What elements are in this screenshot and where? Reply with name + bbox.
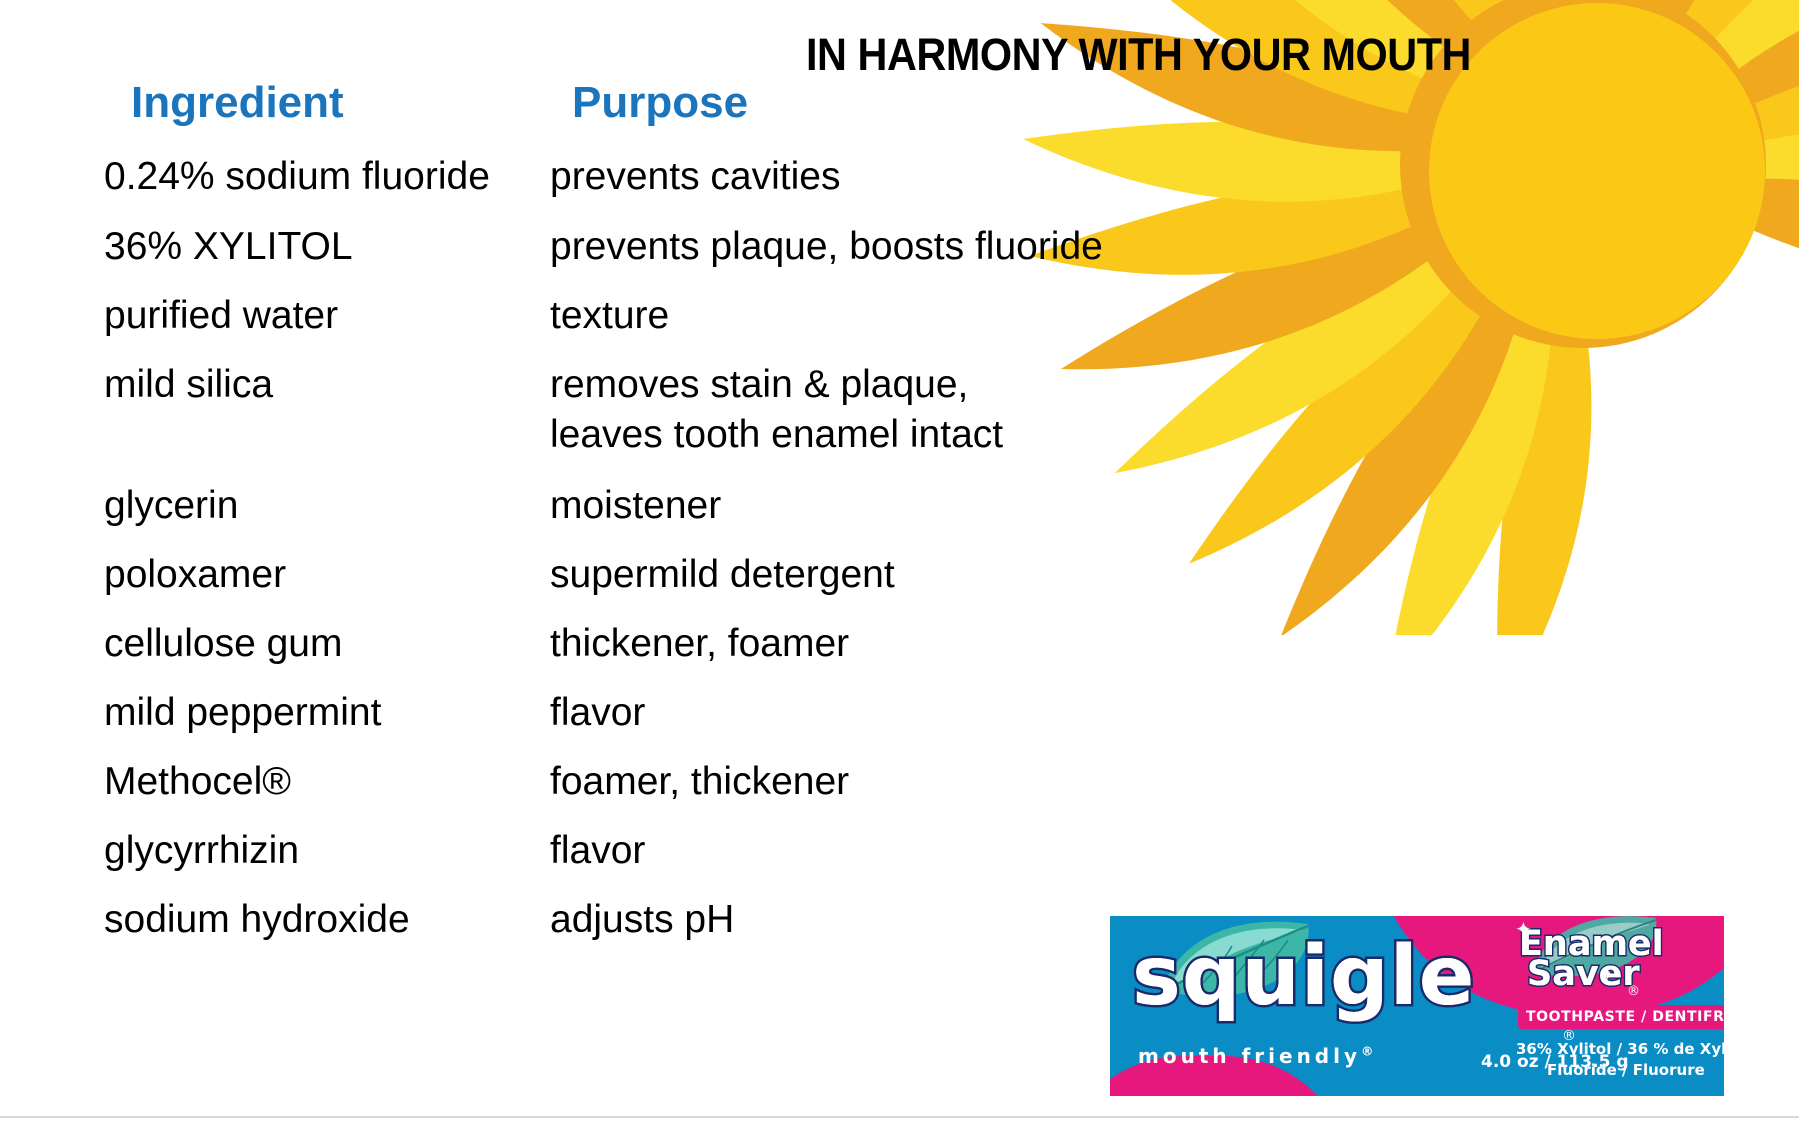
table-header-row: Ingredient Purpose xyxy=(104,78,1114,140)
table-row: Methocel®foamer, thickener xyxy=(104,757,1114,826)
page-title: IN HARMONY WITH YOUR MOUTH xyxy=(806,29,1471,81)
cell-purpose: foamer, thickener xyxy=(550,757,1110,807)
product-package-image: squigle squigle mouth friendly® ® 4.0 oz… xyxy=(1110,916,1724,1096)
slide-canvas: IN HARMONY WITH YOUR MOUTH Ingredient Pu… xyxy=(0,0,1799,1123)
sparkle-icon-2: ✦ xyxy=(1601,966,1614,986)
package-right-panel: ✦ ✦ Enamel Enamel Saver Saver ® TOOTHPAS… xyxy=(1505,916,1724,1096)
package-category-badge: TOOTHPASTE / DENTIFRICE xyxy=(1518,1005,1724,1029)
cell-ingredient: 36% XYLITOL xyxy=(104,222,544,272)
package-xylitol-line: 36% Xylitol / 36 % de Xylitol xyxy=(1516,1040,1724,1058)
ingredient-purpose-table: Ingredient Purpose 0.24% sodium fluoride… xyxy=(104,78,1114,140)
cell-ingredient: purified water xyxy=(104,291,544,341)
cell-ingredient: mild peppermint xyxy=(104,688,544,738)
table-row: mild silicaremoves stain & plaque, leave… xyxy=(104,360,1114,481)
cell-purpose: prevents cavities xyxy=(550,152,1110,202)
squigle-brand-wordmark: squigle xyxy=(1132,936,1475,1018)
cell-purpose: supermild detergent xyxy=(550,550,1110,600)
cell-ingredient: glycyrrhizin xyxy=(104,826,544,876)
table-row: sodium hydroxideadjusts pH xyxy=(104,895,1114,964)
squigle-tagline: mouth friendly® xyxy=(1138,1044,1377,1068)
sparkle-icon-1: ✦ xyxy=(1515,920,1532,940)
table-row: purified watertexture xyxy=(104,291,1114,360)
cell-purpose: thickener, foamer xyxy=(550,619,1110,669)
cell-purpose: moistener xyxy=(550,481,1110,531)
table-row: 0.24% sodium fluorideprevents cavities xyxy=(104,152,1114,222)
table-row: glycerinmoistener xyxy=(104,481,1114,550)
bottom-divider xyxy=(0,1116,1799,1118)
cell-ingredient: sodium hydroxide xyxy=(104,895,544,945)
cell-ingredient: Methocel® xyxy=(104,757,544,807)
cell-purpose: texture xyxy=(550,291,1110,341)
table-row: glycyrrhizinflavor xyxy=(104,826,1114,895)
cell-ingredient: cellulose gum xyxy=(104,619,544,669)
cell-ingredient: 0.24% sodium fluoride xyxy=(104,152,544,202)
cell-purpose: prevents plaque, boosts fluoride xyxy=(550,222,1110,272)
cell-purpose: flavor xyxy=(550,826,1110,876)
cell-ingredient: mild silica xyxy=(104,360,544,410)
table-row: mild peppermintflavor xyxy=(104,688,1114,757)
registered-mark-product: ® xyxy=(1627,984,1640,999)
enamel-saver-line2: Saver xyxy=(1527,958,1640,991)
package-fluoride-line: Fluoride / Fluorure xyxy=(1547,1061,1705,1079)
cell-purpose: removes stain & plaque, leaves tooth ena… xyxy=(550,360,1110,460)
squigle-tagline-text: mouth friendly xyxy=(1138,1044,1361,1068)
column-header-ingredient: Ingredient xyxy=(131,78,344,128)
cell-purpose: flavor xyxy=(550,688,1110,738)
registered-mark-tagline: ® xyxy=(1361,1043,1377,1058)
table-row: cellulose gumthickener, foamer xyxy=(104,619,1114,688)
table-row: 36% XYLITOLprevents plaque, boosts fluor… xyxy=(104,222,1114,291)
cell-ingredient: poloxamer xyxy=(104,550,544,600)
column-header-purpose: Purpose xyxy=(572,78,748,128)
cell-ingredient: glycerin xyxy=(104,481,544,531)
table-row: poloxamersupermild detergent xyxy=(104,550,1114,619)
cell-purpose: adjusts pH xyxy=(550,895,1110,945)
